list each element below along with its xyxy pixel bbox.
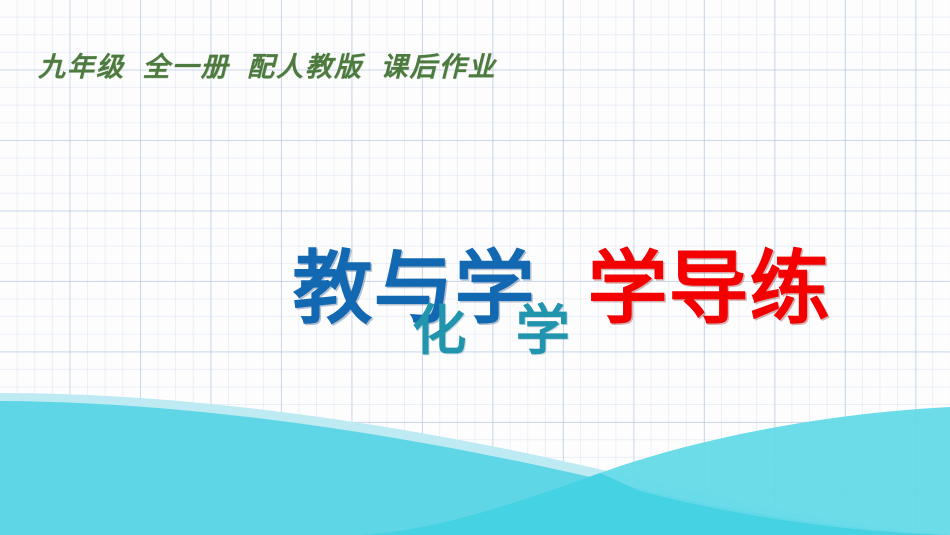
slide-text-content: 九年级 全一册 配人教版 课后作业 教与学学导练 化 学 [0,0,950,535]
header-subtitle: 九年级 全一册 配人教版 课后作业 [38,45,497,84]
cover-slide: 九年级 全一册 配人教版 课后作业 教与学学导练 化 学 [0,0,950,535]
subject-label: 化 学 [18,286,950,365]
